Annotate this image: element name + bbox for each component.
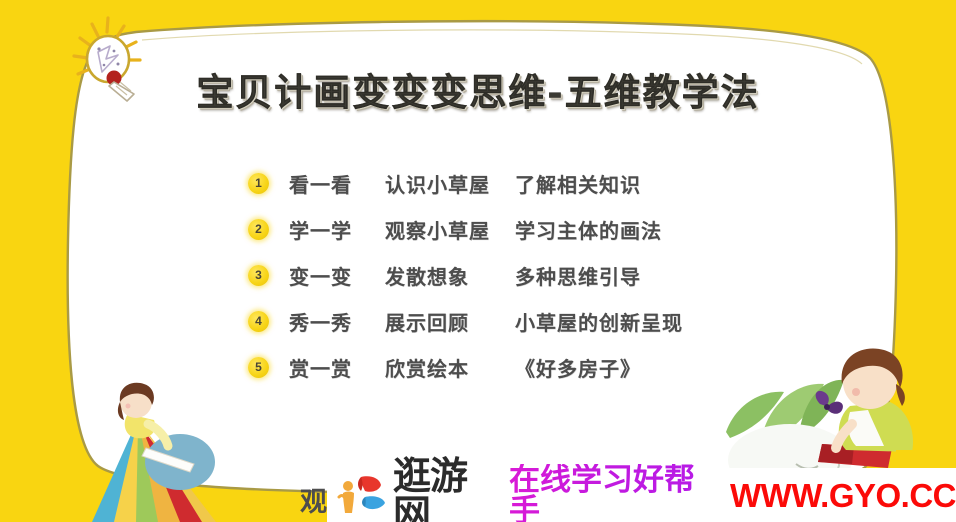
step-task: 认识小草屋 [385, 169, 515, 198]
watermark-bar: 逛游网 在线学习好帮手 WWW.GYO.CC [327, 468, 956, 522]
step-action: 赏一赏 [289, 353, 385, 382]
slide-canvas: 宝贝计画变变变思维-五维教学法 1 看一看 认识小草屋 了解相关知识 2 学一学… [0, 0, 956, 522]
step-task: 欣赏绘本 [385, 353, 515, 382]
step-badge: 4 [248, 311, 269, 332]
step-action: 秀一秀 [289, 307, 385, 336]
gyo-logo-icon [335, 473, 389, 517]
page-title: 宝贝计画变变变思维-五维教学法 [0, 62, 956, 116]
list-item: 3 变一变 发散想象 多种思维引导 [248, 252, 768, 298]
step-task: 发散想象 [385, 261, 515, 290]
step-action: 变一变 [289, 261, 385, 290]
step-badge: 2 [248, 219, 269, 240]
list-item: 5 赏一赏 欣赏绘本 《好多房子》 [248, 344, 768, 390]
obscured-character: 观 [300, 487, 330, 522]
list-item: 4 秀一秀 展示回顾 小草屋的创新呈现 [248, 298, 768, 344]
step-badge: 1 [248, 173, 269, 194]
step-action: 看一看 [289, 169, 385, 198]
steps-list: 1 看一看 认识小草屋 了解相关知识 2 学一学 观察小草屋 学习主体的画法 3… [248, 160, 768, 390]
list-item: 2 学一学 观察小草屋 学习主体的画法 [248, 206, 768, 252]
watermark-brand: 逛游网 [393, 457, 501, 522]
girl-reading-illustration [62, 372, 272, 522]
step-goal: 小草屋的创新呈现 [515, 307, 683, 336]
step-goal: 学习主体的画法 [515, 215, 662, 244]
step-task: 观察小草屋 [385, 215, 515, 244]
step-action: 学一学 [289, 215, 385, 244]
step-task: 展示回顾 [385, 307, 515, 336]
step-goal: 多种思维引导 [515, 261, 641, 290]
watermark-url: WWW.GYO.CC [730, 479, 956, 512]
step-goal: 了解相关知识 [515, 169, 641, 198]
watermark-tagline: 在线学习好帮手 [509, 464, 720, 522]
list-item: 1 看一看 认识小草屋 了解相关知识 [248, 160, 768, 206]
step-goal: 《好多房子》 [515, 353, 641, 382]
step-badge: 3 [248, 265, 269, 286]
